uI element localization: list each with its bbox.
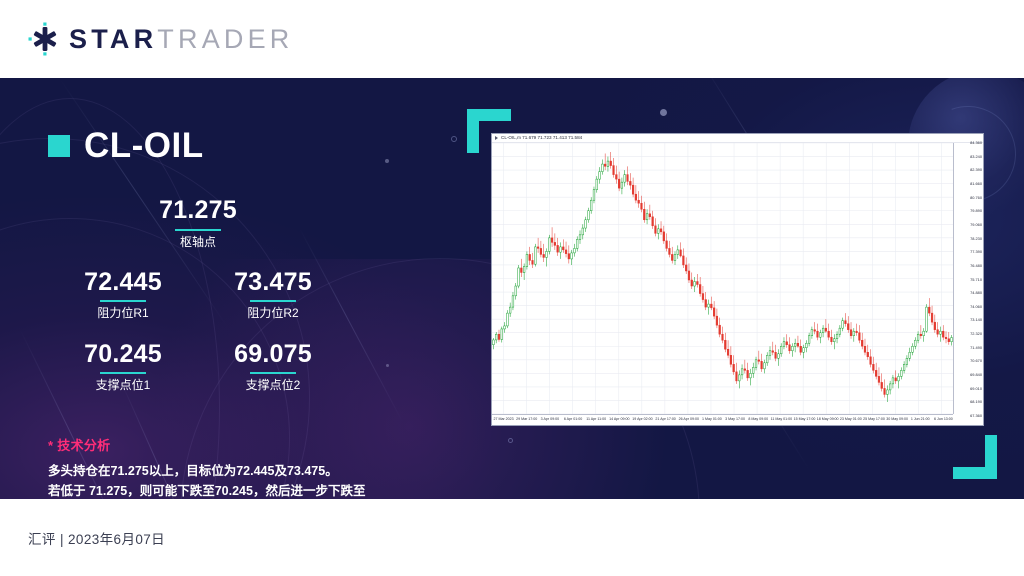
time-tick-label: 3 Apr 09:00 (541, 418, 559, 422)
level-s2-label: 支撑点位2 (198, 378, 348, 392)
time-tick-label: 21 Apr 17:00 (655, 418, 675, 422)
level-pivot-value: 71.275 (48, 197, 348, 225)
pivot-row: 71.275 枢轴点 (48, 197, 348, 249)
time-tick-label: 23 May 01:00 (840, 418, 862, 422)
price-tick-label: 79.890 (970, 209, 982, 213)
price-tick-label: 68.190 (970, 400, 982, 404)
time-tick-label: 15 May 17:00 (794, 418, 816, 422)
analysis-block: * 技术分析 多头持仓在71.275以上，目标位为72.445及73.475。 … (48, 435, 420, 499)
level-pivot-label: 枢轴点 (48, 235, 348, 249)
level-underline (175, 229, 221, 231)
price-tick-label: 71.490 (970, 346, 982, 350)
time-tick-label: 27 Mar 2023 (493, 418, 513, 422)
price-tick-label: 76.480 (970, 264, 982, 268)
level-r1: 72.445 阻力位R1 (48, 269, 198, 321)
time-tick-label: 14 Apr 09:00 (609, 418, 629, 422)
price-tick-label: 83.240 (970, 155, 982, 159)
level-r2-value: 73.475 (198, 269, 348, 297)
analysis-line-2: 若低于 71.275，则可能下跌至70.245，然后进一步下跌至 (48, 481, 420, 499)
title-square-icon (48, 135, 70, 157)
brand-logo: STARTRADER (28, 22, 294, 56)
price-tick-label: 74.880 (970, 291, 982, 295)
price-tick-label: 81.660 (970, 182, 982, 186)
price-tick-label: 67.360 (970, 414, 982, 418)
level-pivot: 71.275 枢轴点 (48, 197, 348, 249)
time-tick-label: 11 Apr 11:00 (586, 418, 606, 422)
support-row: 70.245 支撑点位1 69.075 支撑点位2 (48, 341, 348, 393)
brand-name-bold: STAR (69, 24, 157, 54)
time-tick-label: 3 May 17:00 (725, 418, 745, 422)
level-underline (100, 300, 146, 302)
price-tick-label: 69.010 (970, 387, 982, 391)
bg-ring-dot (451, 136, 457, 142)
level-s1-label: 支撑点位1 (48, 378, 198, 392)
time-tick-label: 19 Apr 02:00 (632, 418, 652, 422)
time-tick-label: 1 May 01:00 (702, 418, 722, 422)
level-underline (100, 372, 146, 374)
time-tick-label: 26 Apr 09:00 (679, 418, 699, 422)
level-s1: 70.245 支撑点位1 (48, 341, 198, 393)
candlestick-svg (492, 143, 953, 414)
level-s2: 69.075 支撑点位2 (198, 341, 348, 393)
level-s2-value: 69.075 (198, 341, 348, 369)
price-axis: 84.36083.24082.39081.66080.76079.89079.0… (953, 143, 983, 414)
footer-text: 汇评 | 2023年6月07日 (28, 528, 165, 548)
price-tick-label: 79.060 (970, 223, 982, 227)
time-axis: 27 Mar 202329 Mar 17:003 Apr 09:006 Apr … (492, 414, 953, 425)
analysis-heading: * 技术分析 (48, 435, 420, 454)
price-tick-label: 82.390 (970, 168, 982, 172)
price-tick-label: 75.710 (970, 278, 982, 282)
page-header: STARTRADER (0, 0, 1024, 78)
price-tick-label: 70.670 (970, 359, 982, 363)
time-tick-label: 30 May 09:00 (886, 418, 908, 422)
chart-title: CL-OIL,m 71.679 71.723 71.413 71.584 (501, 136, 582, 141)
level-s1-value: 70.245 (48, 341, 198, 369)
chart-area: CL-OIL,m 71.679 71.723 71.413 71.584 84.… (467, 109, 997, 479)
price-tick-label: 69.840 (970, 373, 982, 377)
main-stage: CL-OIL 71.275 枢轴点 72.445 阻力位R1 73.475 (0, 78, 1024, 499)
instrument-title-row: CL-OIL (48, 128, 448, 163)
time-tick-label: 8 May 09:00 (748, 418, 768, 422)
level-underline (250, 372, 296, 374)
chevron-right-icon[interactable] (495, 136, 498, 140)
price-tick-label: 80.760 (970, 196, 982, 200)
time-tick-label: 6 Apr 01:00 (564, 418, 582, 422)
price-tick-label: 77.390 (970, 250, 982, 254)
level-r2-label: 阻力位R2 (198, 306, 348, 320)
info-panel: CL-OIL 71.275 枢轴点 72.445 阻力位R1 73.475 (48, 128, 448, 499)
level-r1-label: 阻力位R1 (48, 306, 198, 320)
price-tick-label: 74.060 (970, 305, 982, 309)
time-tick-label: 18 May 09:00 (817, 418, 839, 422)
price-chart[interactable]: CL-OIL,m 71.679 71.723 71.413 71.584 84.… (491, 133, 984, 426)
chart-title-bar: CL-OIL,m 71.679 71.723 71.413 71.584 (492, 134, 983, 143)
price-tick-label: 84.360 (970, 141, 982, 145)
pivot-levels: 71.275 枢轴点 72.445 阻力位R1 73.475 阻力位R2 (48, 197, 348, 393)
price-tick-label: 72.320 (970, 332, 982, 336)
corner-bracket-bottom-right-icon (953, 435, 997, 479)
page-title: CL-OIL (84, 128, 204, 163)
level-r2: 73.475 阻力位R2 (198, 269, 348, 321)
level-r1-value: 72.445 (48, 269, 198, 297)
time-tick-label: 6 Jun 13:00 (934, 418, 953, 422)
time-tick-label: 11 May 01:00 (771, 418, 793, 422)
time-tick-label: 29 Mar 17:00 (516, 418, 537, 422)
analysis-line-1: 多头持仓在71.275以上，目标位为72.445及73.475。 (48, 461, 420, 481)
brand-name-light: TRADER (157, 24, 293, 54)
time-tick-label: 25 May 17:00 (863, 418, 885, 422)
asterisk-logo-icon (28, 22, 62, 56)
brand-wordmark: STARTRADER (69, 26, 294, 53)
chart-plot[interactable] (492, 143, 953, 414)
page-footer: 汇评 | 2023年6月07日 (0, 499, 1024, 576)
level-underline (250, 300, 296, 302)
price-tick-label: 73.140 (970, 318, 982, 322)
price-tick-label: 78.230 (970, 237, 982, 241)
resistance-row: 72.445 阻力位R1 73.475 阻力位R2 (48, 269, 348, 321)
time-tick-label: 1 Jun 21:00 (911, 418, 930, 422)
